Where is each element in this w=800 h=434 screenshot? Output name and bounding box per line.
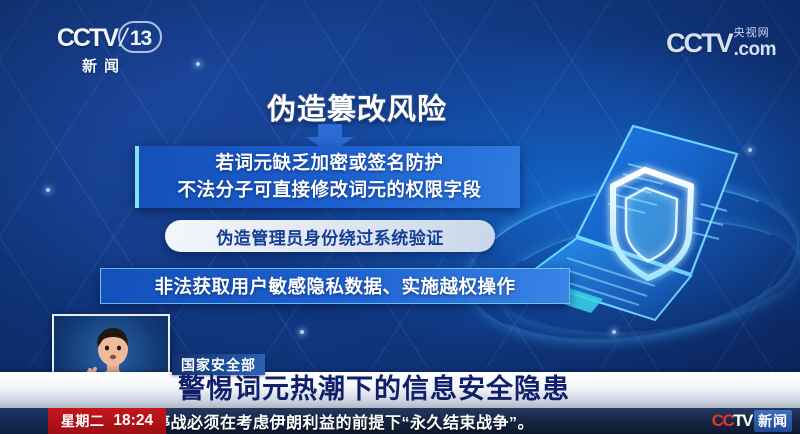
ticker-left-pad [0,408,48,434]
info-box-secondary: 伪造管理员身份绕过系统验证 [165,220,495,252]
info-box-primary: 若词元缺乏加密或签名防护 不法分子可直接修改词元的权限字段 [135,146,520,208]
channel-logo-text: CCTV [57,24,117,53]
info-box-tertiary: 非法获取用户敏感隐私数据、实施越权操作 [100,268,570,304]
graphic-title: 伪造篡改风险 [232,86,482,128]
ticker-brand: CCTV 新闻 [690,408,800,434]
info-box-primary-line1: 若词元缺乏加密或签名防护 [139,150,520,177]
ticker-brand-text: CCTV [712,411,752,431]
ticker-brand-cn: 新闻 [754,410,792,432]
channel-logo-slash: / [117,24,130,53]
ticker-time: 星期二 18:24 [48,408,166,434]
info-box-secondary-line: 伪造管理员身份绕过系统验证 [165,224,495,249]
channel-logo-row: CCTV / 13 [48,24,160,53]
ticker-text: 停战必须在考虑伊朗利益的前提下“永久结束战争”。 [166,409,534,433]
ticker-clock: 18:24 [113,412,153,430]
ticker-weekday: 星期二 [61,411,105,431]
channel-logo-subtitle: 新闻 [48,55,160,76]
lower-third: 国家安全部 警惕词元热潮下的信息安全隐患 [0,372,800,408]
channel-logo: CCTV / 13 新闻 [48,24,160,76]
broadcast-frame: CCTV / 13 新闻 CCTV 央视网 .com 伪造篡改风险 若词元缺乏加… [0,0,800,434]
info-box-primary-line2: 不法分子可直接修改词元的权限字段 [139,177,520,204]
watermark-stack: 央视网 .com [734,28,776,59]
watermark-domain: .com [734,40,776,59]
channel-logo-number: 13 [130,27,151,51]
ticker-brand-cc: CC [712,411,734,430]
ticker-brand-tv: TV [733,411,752,430]
lower-third-headline: 警惕词元热潮下的信息安全隐患 [178,367,570,406]
watermark-cn: 央视网 [734,28,776,39]
info-box-tertiary-line: 非法获取用户敏感隐私数据、实施越权操作 [101,273,569,299]
ticker-scroll-region: 停战必须在考虑伊朗利益的前提下“永久结束战争”。 [166,408,690,434]
watermark-brand: CCTV [666,28,732,59]
news-ticker: 星期二 18:24 停战必须在考虑伊朗利益的前提下“永久结束战争”。 CCTV … [0,408,800,434]
watermark: CCTV 央视网 .com [666,28,776,59]
